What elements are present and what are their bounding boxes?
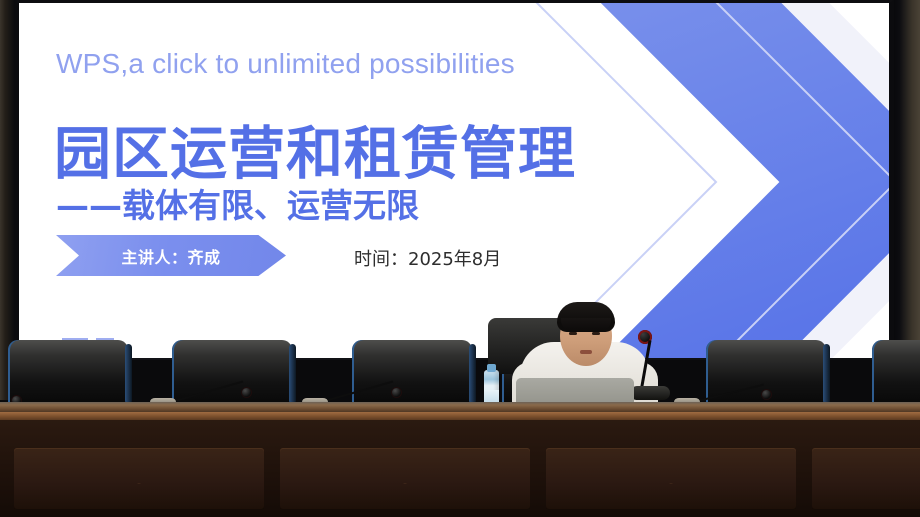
microphone-head-icon bbox=[392, 388, 401, 397]
table-panel bbox=[812, 448, 920, 510]
presenter-mouth bbox=[580, 350, 592, 354]
presenter-eye-right bbox=[592, 332, 600, 335]
presenter-eye-left bbox=[569, 332, 577, 335]
speaker-banner-label: 主讲人：齐成 bbox=[121, 244, 220, 268]
presenter-hair bbox=[557, 302, 615, 332]
chair bbox=[8, 340, 128, 408]
slide-date-line: 时间：2025年8月 bbox=[354, 245, 501, 271]
chair bbox=[172, 340, 292, 408]
speaker-banner: 主讲人：齐成 bbox=[56, 235, 286, 276]
presenter-microphone-base bbox=[630, 386, 670, 400]
chair-row bbox=[0, 340, 920, 410]
table-panel bbox=[280, 448, 530, 510]
conference-room-scene: WPS,a click to unlimited possibilities 园… bbox=[0, 0, 920, 517]
slide-subtitle: ——载体有限、运营无限 bbox=[56, 179, 419, 227]
chair bbox=[872, 340, 920, 408]
slide-title: 园区运营和租赁管理 bbox=[54, 108, 576, 190]
chair bbox=[352, 340, 472, 408]
table-panel bbox=[546, 448, 796, 510]
microphone-head-icon bbox=[762, 390, 771, 399]
slide-brand-line: WPS,a click to unlimited possibilities bbox=[56, 48, 515, 80]
projection-screen: WPS,a click to unlimited possibilities 园… bbox=[18, 2, 890, 358]
table-front-panel bbox=[0, 420, 920, 517]
microphone-head-icon bbox=[242, 388, 251, 397]
table-panel bbox=[14, 448, 264, 510]
